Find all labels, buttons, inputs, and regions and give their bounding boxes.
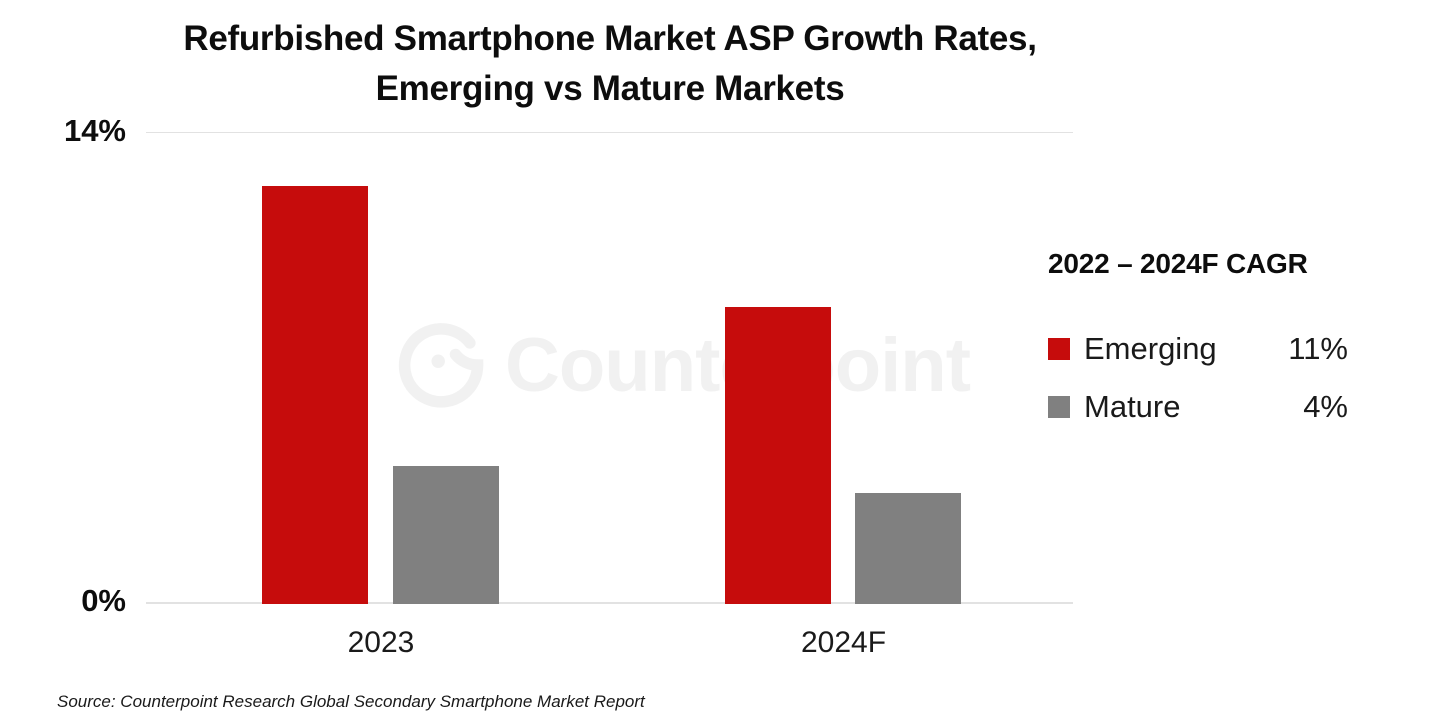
y-tick-label-bottom: 0%	[81, 583, 126, 619]
legend-label-emerging: Emerging	[1084, 331, 1217, 367]
legend-swatch-emerging-icon	[1048, 338, 1070, 360]
bar-2024f-mature	[855, 493, 961, 604]
x-tick-label-2024f: 2024F	[725, 626, 962, 660]
bar-2023-emerging	[262, 186, 368, 604]
chart-page: Refurbished Smartphone Market ASP Growth…	[0, 0, 1440, 726]
legend-items: Emerging 11% Mature 4%	[1048, 320, 1388, 436]
legend: 2022 – 2024F CAGR Emerging 11% Mature 4%	[1048, 248, 1388, 436]
y-axis: 14% 0%	[0, 0, 126, 726]
page-title: Refurbished Smartphone Market ASP Growth…	[140, 14, 1080, 113]
legend-row-mature[interactable]: Mature 4%	[1048, 378, 1388, 436]
legend-swatch-mature-icon	[1048, 396, 1070, 418]
bar-2024f-emerging	[725, 307, 831, 604]
legend-title: 2022 – 2024F CAGR	[1048, 248, 1388, 280]
bar-group-container	[146, 132, 1073, 604]
x-tick-label-2023: 2023	[262, 626, 500, 660]
chart-title-line-2: Emerging vs Mature Markets	[140, 64, 1080, 114]
y-tick-label-top: 14%	[64, 113, 126, 149]
legend-value-mature: 4%	[1303, 389, 1388, 425]
source-note: Source: Counterpoint Research Global Sec…	[57, 692, 645, 712]
chart-title-line-1: Refurbished Smartphone Market ASP Growth…	[140, 14, 1080, 64]
legend-value-emerging: 11%	[1288, 331, 1388, 367]
legend-label-mature: Mature	[1084, 389, 1180, 425]
bar-2023-mature	[393, 466, 499, 604]
legend-row-emerging[interactable]: Emerging 11%	[1048, 320, 1388, 378]
